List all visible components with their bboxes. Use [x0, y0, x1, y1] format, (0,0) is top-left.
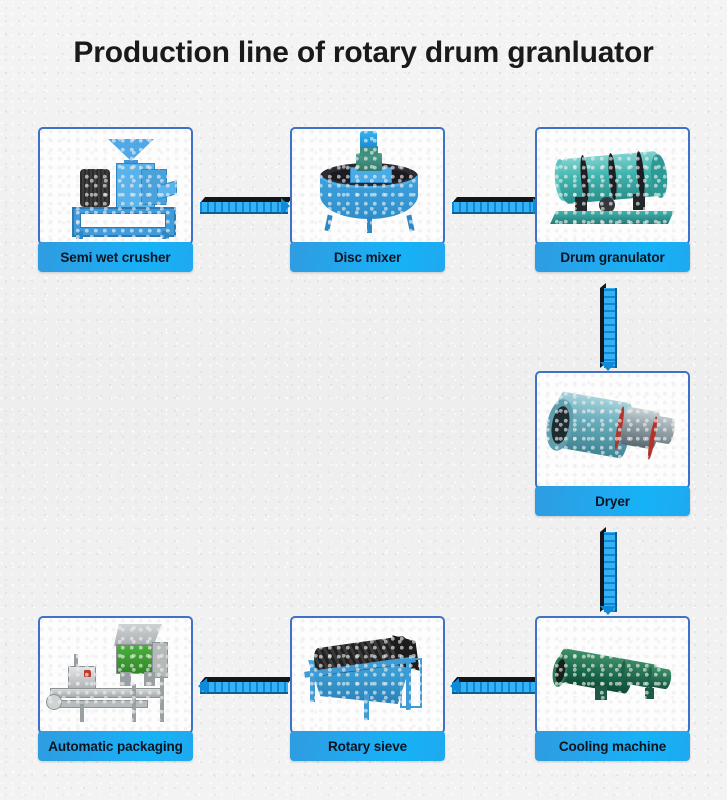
conveyor-arrow-granulator-to-dryer: [600, 288, 617, 368]
conveyor-arrow-sieve-to-packaging: [200, 677, 288, 694]
flow-card-label: Cooling machine: [535, 731, 690, 761]
disc-mixer-image: [290, 127, 445, 245]
flow-card-drum-granulator[interactable]: Drum granulator: [535, 127, 690, 272]
page-title: Production line of rotary drum granluato…: [0, 36, 727, 70]
flow-card-label: Drum granulator: [535, 242, 690, 272]
disc-mixer-machine-icon: [292, 129, 443, 243]
cooling-machine-icon: [537, 618, 688, 732]
dryer-image: [535, 371, 690, 489]
flow-card-cooling-machine[interactable]: Cooling machine: [535, 616, 690, 761]
drum-granulator-machine-icon: [537, 129, 688, 243]
flow-card-label: Automatic packaging: [38, 731, 193, 761]
flow-card-semi-wet-crusher[interactable]: Semi wet crusher: [38, 127, 193, 272]
flow-card-label: Semi wet crusher: [38, 242, 193, 272]
rotary-sieve-machine-icon: [292, 618, 443, 732]
flow-card-automatic-packaging[interactable]: Automatic packaging: [38, 616, 193, 761]
flow-card-disc-mixer[interactable]: Disc mixer: [290, 127, 445, 272]
cooling-machine-image: [535, 616, 690, 734]
flow-card-label: Rotary sieve: [290, 731, 445, 761]
drum-granulator-image: [535, 127, 690, 245]
conveyor-arrow-crusher-to-mixer: [200, 197, 288, 214]
dryer-machine-icon: [537, 373, 688, 487]
rotary-sieve-image: [290, 616, 445, 734]
conveyor-arrow-cooling-to-sieve: [452, 677, 540, 694]
packaging-machine-icon: [40, 618, 191, 732]
flow-card-rotary-sieve[interactable]: Rotary sieve: [290, 616, 445, 761]
conveyor-arrow-dryer-to-cooling: [600, 532, 617, 612]
semi-wet-crusher-image: [38, 127, 193, 245]
automatic-packaging-image: [38, 616, 193, 734]
conveyor-arrow-mixer-to-granulator: [452, 197, 540, 214]
crusher-machine-icon: [40, 129, 191, 243]
flow-card-label: Dryer: [535, 486, 690, 516]
flow-card-label: Disc mixer: [290, 242, 445, 272]
flow-card-dryer[interactable]: Dryer: [535, 371, 690, 516]
